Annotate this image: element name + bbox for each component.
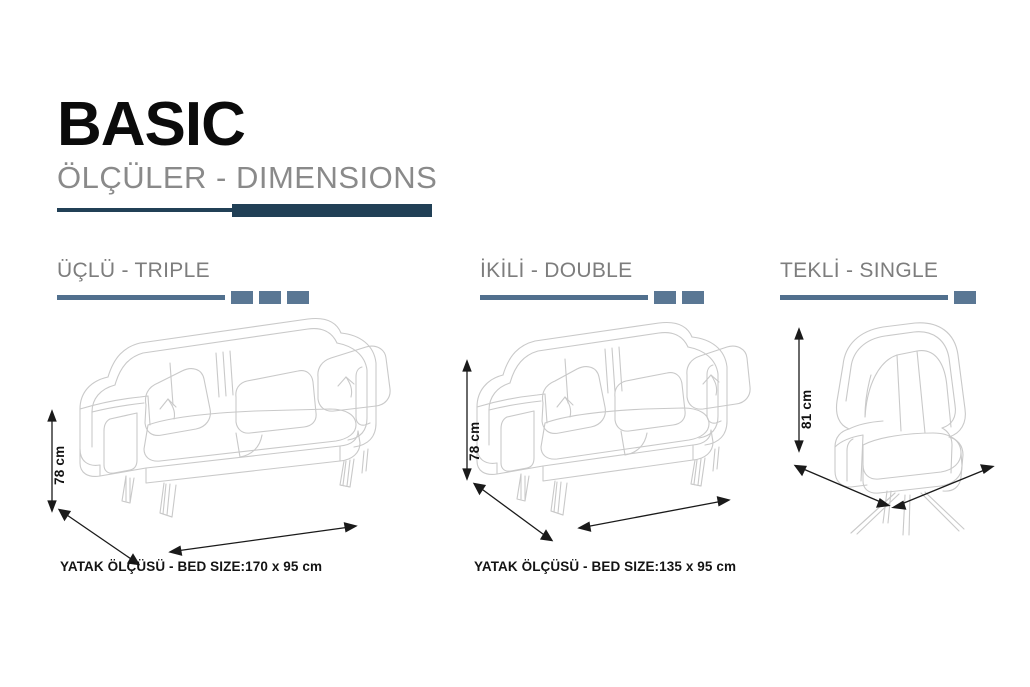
section-accent-block [287,291,309,304]
sofa-double-illustration [455,305,765,535]
section-label-single: TEKLİ - SINGLE [780,259,980,283]
section-rule-line [57,295,225,300]
dimension-height-triple: 78 cm [52,446,67,485]
section-rule-line [480,295,648,300]
page-subtitle: ÖLÇÜLER - DIMENSIONS [57,161,477,195]
dimension-arrows [463,361,729,541]
title-underline [57,204,432,217]
section-rule-double [480,291,700,304]
dimension-height-double: 78 cm [467,422,482,461]
section-accent-block [259,291,281,304]
section-header-double: İKİLİ - DOUBLE [480,259,700,304]
section-header-single: TEKLİ - SINGLE [780,259,980,304]
title-underline-thin [57,208,232,212]
drawing-panel-single: 81 cm 84 cm 85 cm [775,305,1015,535]
section-rule-single [780,291,980,304]
section-label-double: İKİLİ - DOUBLE [480,259,700,283]
page-title: BASIC [57,96,477,155]
sofa-triple-illustration [40,305,440,535]
section-accent-block [954,291,976,304]
section-header-triple: ÜÇLÜ - TRIPLE [57,259,307,304]
bed-size-triple: YATAK ÖLÇÜSÜ - BED SIZE:170 x 95 cm [60,559,322,574]
section-accent-block [654,291,676,304]
section-rule-triple [57,291,307,304]
section-rule-line [780,295,948,300]
dimension-height-single: 81 cm [799,390,814,429]
section-label-triple: ÜÇLÜ - TRIPLE [57,259,307,283]
dimension-arrows [48,411,356,565]
sheet-header: BASIC ÖLÇÜLER - DIMENSIONS [57,96,477,195]
bed-size-double: YATAK ÖLÇÜSÜ - BED SIZE:135 x 95 cm [474,559,736,574]
dimensions-sheet: BASIC ÖLÇÜLER - DIMENSIONS ÜÇLÜ - TRIPLE… [0,0,1030,687]
title-underline-thick [232,204,432,217]
drawing-panel-triple: 78 cm 97 cm 228 cm [40,305,440,535]
section-accent-block [231,291,253,304]
section-accent-block [682,291,704,304]
drawing-panel-double: 78 cm 97 cm 193 cm [455,305,765,535]
